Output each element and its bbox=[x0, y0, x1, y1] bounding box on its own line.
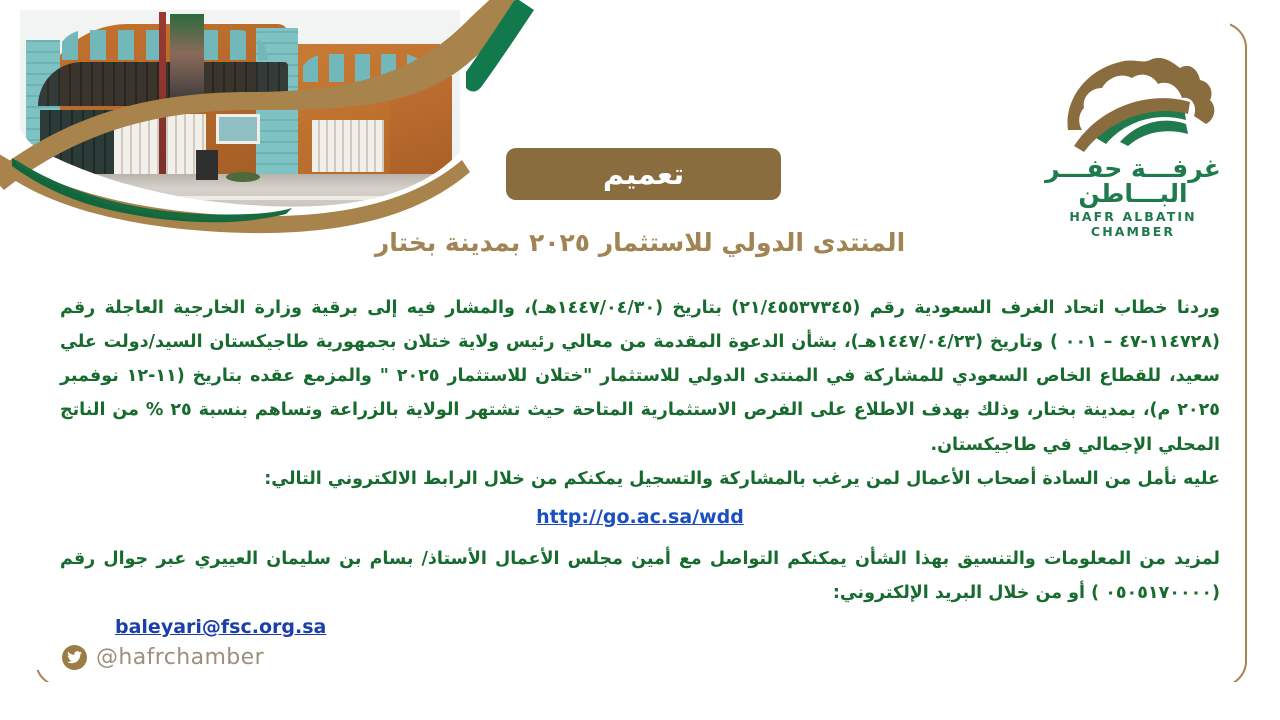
circular-page: غرفـــة حفـــر البـــاطن HAFR ALBATIN CH… bbox=[0, 0, 1280, 720]
logo-english-name: HAFR ALBATIN CHAMBER bbox=[1038, 209, 1228, 239]
twitter-handle[interactable]: @hafrchamber bbox=[96, 645, 264, 670]
body-paragraph-2: عليه نأمل من السادة أصحاب الأعمال لمن ير… bbox=[60, 462, 1220, 496]
registration-link[interactable]: http://go.ac.sa/wdd bbox=[536, 506, 744, 528]
circular-badge: تعميم bbox=[506, 148, 781, 200]
gold-swoosh-upper bbox=[0, 0, 522, 190]
registration-link-row: http://go.ac.sa/wdd bbox=[60, 506, 1220, 528]
logo-arabic-name: غرفـــة حفـــر البـــاطن bbox=[1038, 156, 1228, 206]
social-footer[interactable]: @hafrchamber bbox=[62, 645, 264, 670]
decorative-swoosh-art bbox=[0, 0, 700, 250]
contact-email-link[interactable]: baleyari@fsc.org.sa bbox=[115, 616, 326, 638]
twitter-icon[interactable] bbox=[62, 645, 87, 670]
body-paragraph-1: وردنا خطاب اتحاد الغرف السعودية رقم (٢١/… bbox=[60, 291, 1220, 462]
chamber-logo: غرفـــة حفـــر البـــاطن HAFR ALBATIN CH… bbox=[1038, 42, 1228, 212]
logo-mark-icon bbox=[1038, 42, 1228, 154]
email-link-row: baleyari@fsc.org.sa bbox=[60, 616, 1220, 638]
frame-mask-bottom bbox=[30, 682, 1250, 692]
body-paragraph-3: لمزيد من المعلومات والتنسيق بهذا الشأن ي… bbox=[60, 542, 1220, 610]
document-content: المنتدى الدولي للاستثمار ٢٠٢٥ بمدينة بخت… bbox=[60, 228, 1220, 638]
